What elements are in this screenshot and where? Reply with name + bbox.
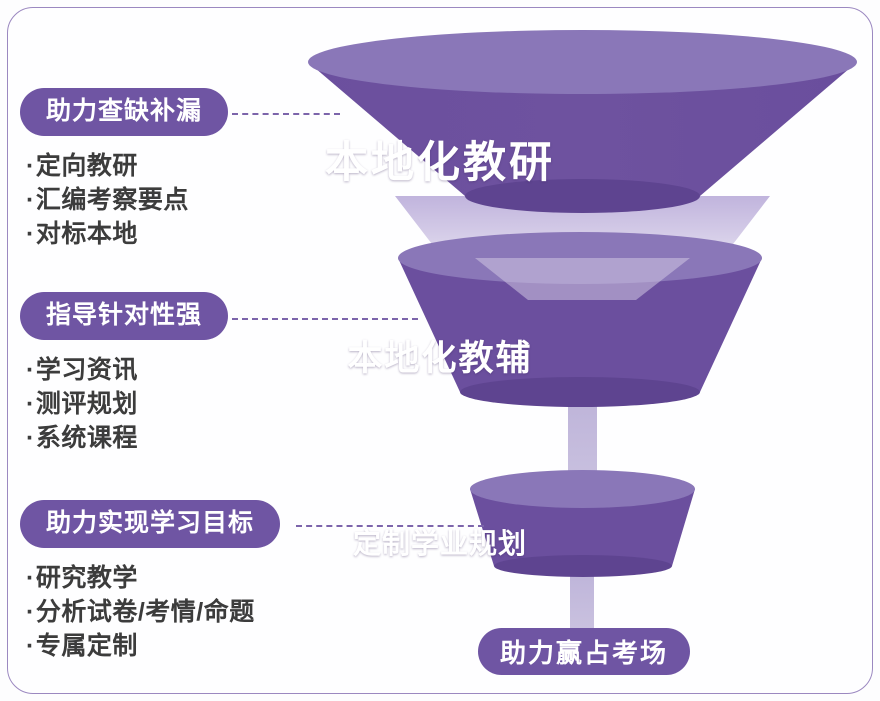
list-item: ·系统课程	[26, 422, 228, 456]
bullet-marker-icon: ·	[26, 390, 35, 418]
list-item-label: 测评规划	[36, 390, 138, 418]
bullet-marker-icon: ·	[26, 152, 35, 180]
callout-3-pill[interactable]: 助力实现学习目标	[20, 500, 280, 548]
bullet-marker-icon: ·	[26, 424, 35, 452]
bullet-marker-icon: ·	[26, 564, 35, 592]
callout-2-bullet-list: ·学习资讯 ·测评规划 ·系统课程	[20, 354, 228, 455]
funnel-infographic: 本地化教研 本地化教辅 定制学业规划 助力查缺补漏 ·定向教研 ·汇编考察要点 …	[0, 0, 880, 701]
callout-1-pill[interactable]: 助力查缺补漏	[20, 88, 228, 136]
list-item-label: 专属定制	[36, 632, 138, 660]
list-item: ·专属定制	[26, 630, 280, 664]
callout-3-bullet-list: ·研究教学 ·分析试卷/考情/命题 ·专属定制	[20, 562, 280, 663]
bullet-marker-icon: ·	[26, 632, 35, 660]
list-item: ·汇编考察要点	[26, 184, 228, 218]
bullet-marker-icon: ·	[26, 220, 35, 248]
callout-1-bullet-list: ·定向教研 ·汇编考察要点 ·对标本地	[20, 150, 228, 251]
list-item-label: 汇编考察要点	[36, 186, 189, 214]
list-item: ·对标本地	[26, 218, 228, 252]
dashed-connector-2	[232, 318, 418, 320]
callout-2-pill[interactable]: 指导针对性强	[20, 292, 228, 340]
list-item: ·研究教学	[26, 562, 280, 596]
list-item: ·测评规划	[26, 388, 228, 422]
list-item-label: 定向教研	[36, 152, 138, 180]
cta-button-label: 助力赢占考场	[500, 633, 668, 670]
list-item-label: 分析试卷/考情/命题	[36, 598, 255, 626]
dashed-connector-1	[232, 113, 340, 115]
bullet-marker-icon: ·	[26, 356, 35, 384]
list-item-label: 研究教学	[36, 564, 138, 592]
list-item: ·学习资讯	[26, 354, 228, 388]
list-item-label: 系统课程	[36, 424, 138, 452]
dashed-connector-3	[296, 525, 484, 527]
bullet-marker-icon: ·	[26, 186, 35, 214]
list-item: ·定向教研	[26, 150, 228, 184]
callout-group-1: 助力查缺补漏 ·定向教研 ·汇编考察要点 ·对标本地	[20, 88, 228, 251]
bullet-marker-icon: ·	[26, 598, 35, 626]
list-item-label: 学习资讯	[36, 356, 138, 384]
list-item: ·分析试卷/考情/命题	[26, 596, 280, 630]
list-item-label: 对标本地	[36, 220, 138, 248]
callout-group-2: 指导针对性强 ·学习资讯 ·测评规划 ·系统课程	[20, 292, 228, 455]
callout-group-3: 助力实现学习目标 ·研究教学 ·分析试卷/考情/命题 ·专属定制	[20, 500, 280, 663]
cta-button[interactable]: 助力赢占考场	[478, 628, 690, 675]
